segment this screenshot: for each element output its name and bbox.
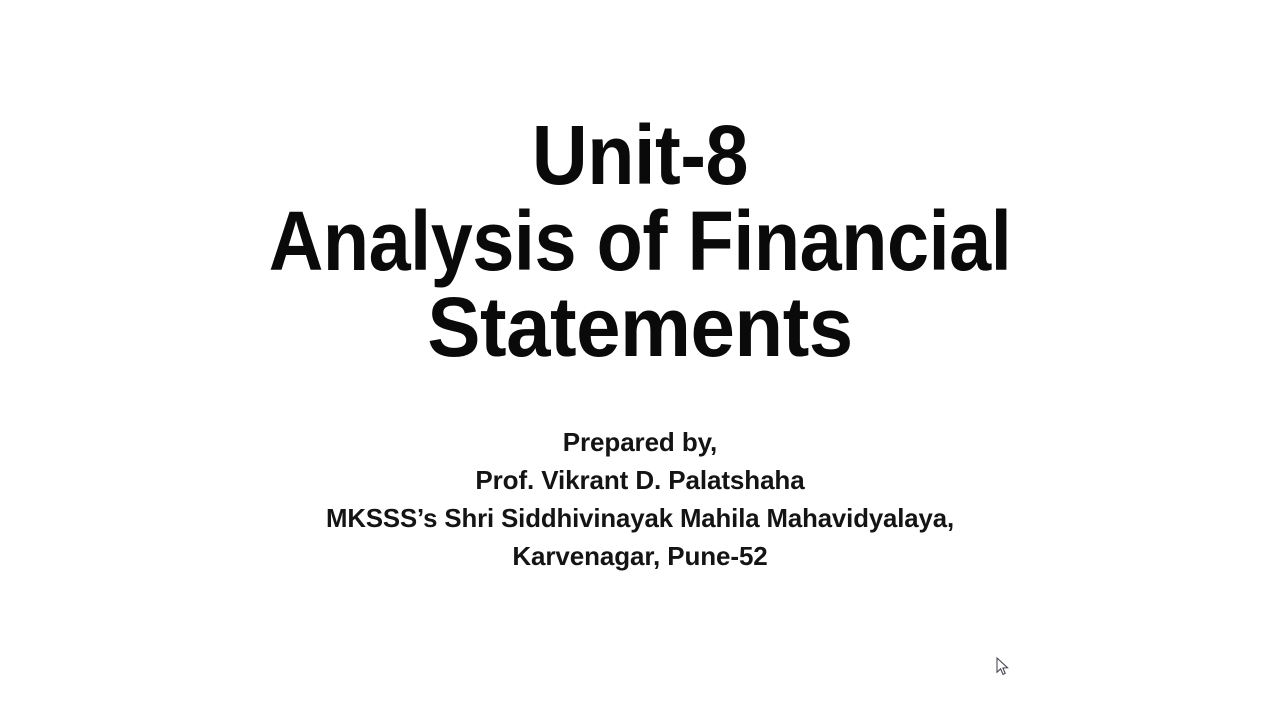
credits-line-institution: MKSSS’s Shri Siddhivinayak Mahila Mahavi… — [6, 499, 1273, 537]
credits-line-author: Prof. Vikrant D. Palatshaha — [0, 461, 1280, 499]
title-line-2: Analysis of Financial — [64, 198, 1216, 284]
presentation-slide: Unit-8 Analysis of Financial Statements … — [0, 0, 1280, 720]
credits-line-prepared-by: Prepared by, — [0, 423, 1280, 461]
credits-line-location: Karvenagar, Pune-52 — [0, 537, 1280, 575]
slide-title: Unit-8 Analysis of Financial Statements — [0, 112, 1280, 370]
title-line-3: Statements — [32, 284, 1248, 370]
title-line-1: Unit-8 — [51, 112, 1229, 198]
slide-credits: Prepared by, Prof. Vikrant D. Palatshaha… — [0, 423, 1280, 575]
mouse-pointer-arrow-icon — [996, 657, 1010, 677]
